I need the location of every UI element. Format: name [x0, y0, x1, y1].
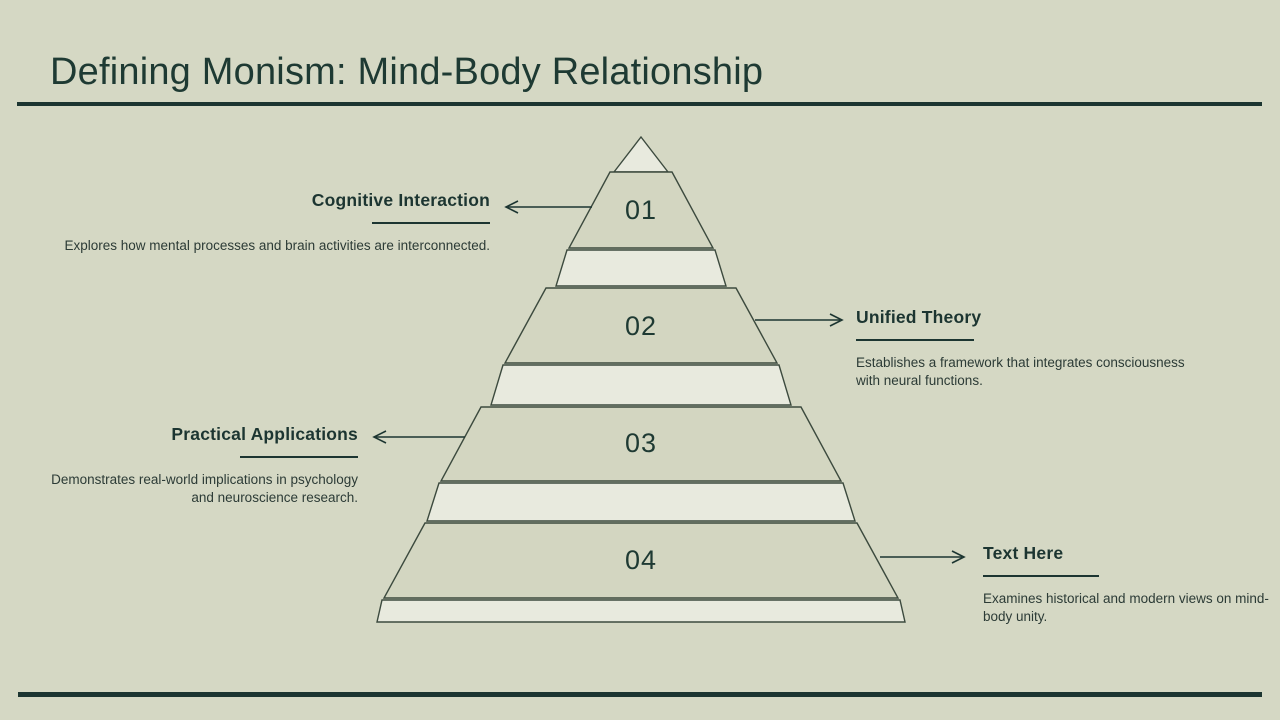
pyramid-number-01: 01	[625, 195, 657, 225]
callout-text-here[interactable]: Text Here Examines historical and modern…	[983, 543, 1280, 626]
callout-description: Establishes a framework that integrates …	[856, 354, 1186, 390]
pyramid-base-band	[377, 600, 905, 622]
callout-underline	[983, 575, 1099, 577]
callout-title: Practical Applications	[40, 424, 358, 445]
pyramid-separator-2	[491, 365, 791, 405]
callout-description: Demonstrates real-world implications in …	[40, 471, 358, 507]
callout-unified-theory[interactable]: Unified Theory Establishes a framework t…	[856, 307, 1186, 390]
pyramid-tip	[614, 137, 668, 172]
callout-description: Explores how mental processes and brain …	[62, 237, 490, 255]
callout-practical-applications[interactable]: Practical Applications Demonstrates real…	[40, 424, 358, 507]
slide-canvas: Defining Monism: Mind-Body Relationship …	[0, 0, 1280, 720]
pyramid-number-03: 03	[625, 428, 657, 458]
callout-title: Cognitive Interaction	[62, 190, 490, 211]
callout-underline	[372, 222, 490, 224]
callout-underline	[856, 339, 974, 341]
pyramid-separator-3	[427, 483, 855, 521]
callout-description: Examines historical and modern views on …	[983, 590, 1280, 626]
callout-title: Text Here	[983, 543, 1280, 564]
callout-underline	[240, 456, 358, 458]
pyramid-number-02: 02	[625, 311, 657, 341]
arrow-to-callout-1	[506, 201, 592, 213]
callout-cognitive-interaction[interactable]: Cognitive Interaction Explores how menta…	[62, 190, 490, 255]
arrow-to-callout-4	[880, 551, 964, 563]
callout-title: Unified Theory	[856, 307, 1186, 328]
pyramid-separator-1	[556, 250, 726, 286]
pyramid-number-04: 04	[625, 545, 657, 575]
footer-divider	[18, 692, 1262, 697]
arrow-to-callout-2	[755, 314, 842, 326]
arrow-to-callout-3	[374, 431, 465, 443]
